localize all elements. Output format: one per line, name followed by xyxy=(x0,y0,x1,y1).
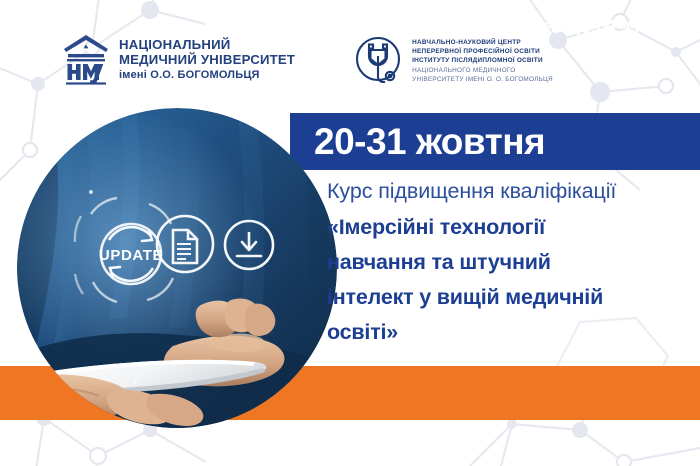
credits-label: 2 кредити ECTS xyxy=(345,17,480,38)
promo-poster: НАЦІОНАЛЬНИЙ МЕДИЧНИЙ УНІВЕРСИТЕТ імені … xyxy=(0,0,700,466)
course-title-block: Курс підвищення кваліфікації «Імерсійні … xyxy=(327,176,687,350)
center-logo-line4: НАЦІОНАЛЬНОГО МЕДИЧНОГО xyxy=(412,66,553,75)
phone-circle-icon xyxy=(507,14,533,40)
date-banner: 20-31 жовтня xyxy=(290,113,700,170)
phone-item[interactable]: +38 (093) 954 35 07 xyxy=(507,14,697,40)
course-title-line-4: освіті» xyxy=(327,315,687,350)
nmu-logo-line3: імені О.О. БОГОМОЛЬЦЯ xyxy=(119,68,295,82)
update-label: UPDATE xyxy=(99,247,163,264)
building-emblem-icon xyxy=(62,33,110,85)
course-title: «Імерсійні технології навчання та штучни… xyxy=(327,210,687,350)
footer-content: 2 кредити ECTS +38 (093) 954 35 07 xyxy=(313,0,697,54)
credits-item: 2 кредити ECTS xyxy=(313,14,480,40)
course-title-line-2: навчання та штучний xyxy=(327,245,687,280)
center-logo-line5: УНІВЕРСИТЕТУ ІМЕНІ О. О. БОГОМОЛЬЦЯ xyxy=(412,75,553,84)
nmu-logo: НАЦІОНАЛЬНИЙ МЕДИЧНИЙ УНІВЕРСИТЕТ імені … xyxy=(62,33,295,85)
center-logo-line3: ІНСТИТУТУ ПІСЛЯДИПЛОМНОЇ ОСВІТИ xyxy=(412,56,553,65)
course-subtitle: Курс підвищення кваліфікації xyxy=(327,176,687,206)
course-title-line-1: «Імерсійні технології xyxy=(327,210,687,245)
doctor-holding-tablet-photo: UPDATE xyxy=(17,108,337,428)
clipboard-pencil-icon xyxy=(313,14,337,40)
nmu-logo-line2: МЕДИЧНИЙ УНІВЕРСИТЕТ xyxy=(119,52,295,68)
nmu-logo-line1: НАЦІОНАЛЬНИЙ xyxy=(119,37,295,53)
phone-number[interactable]: +38 (093) 954 35 07 xyxy=(541,17,697,38)
nmu-logo-text: НАЦІОНАЛЬНИЙ МЕДИЧНИЙ УНІВЕРСИТЕТ імені … xyxy=(119,37,295,82)
course-title-line-3: інтелект у вищій медичній xyxy=(327,280,687,315)
date-text: 20-31 жовтня xyxy=(314,123,545,160)
